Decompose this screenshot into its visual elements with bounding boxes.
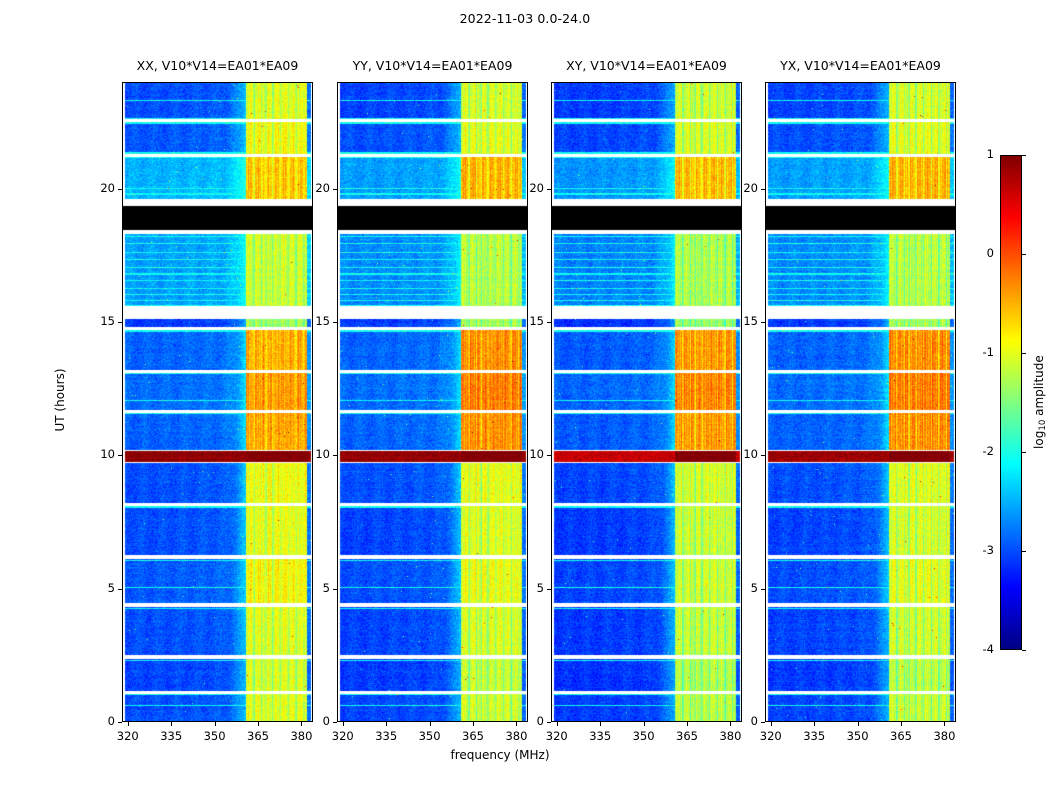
y-tick-mark xyxy=(118,455,122,456)
x-tick-mark xyxy=(901,722,902,726)
x-tick-label: 380 xyxy=(710,729,750,743)
x-tick-label: 365 xyxy=(667,729,707,743)
y-tick-label: 15 xyxy=(511,314,544,328)
colorbar-tick-mark xyxy=(1022,155,1026,156)
x-tick-mark xyxy=(473,722,474,726)
y-tick-label: 5 xyxy=(82,581,115,595)
x-tick-label: 350 xyxy=(838,729,878,743)
colorbar-tick-mark xyxy=(1022,452,1026,453)
y-tick-mark xyxy=(547,322,551,323)
y-tick-mark xyxy=(333,322,337,323)
x-tick-mark xyxy=(430,722,431,726)
x-tick-mark xyxy=(600,722,601,726)
colorbar-tick-label: -1 xyxy=(960,345,994,359)
spectrum-panel-yy[interactable] xyxy=(337,82,528,722)
x-tick-label: 335 xyxy=(580,729,620,743)
colorbar-tick-label: -2 xyxy=(960,444,994,458)
y-axis-label: UT (hours) xyxy=(53,360,67,440)
x-axis-label: frequency (MHz) xyxy=(380,748,620,762)
y-tick-mark xyxy=(333,455,337,456)
x-tick-mark xyxy=(944,722,945,726)
waterfall-image xyxy=(551,82,742,722)
y-tick-mark xyxy=(761,322,765,323)
y-tick-mark xyxy=(118,722,122,723)
x-tick-label: 350 xyxy=(624,729,664,743)
x-tick-mark xyxy=(128,722,129,726)
x-tick-label: 335 xyxy=(151,729,191,743)
colorbar-tick-label: -3 xyxy=(960,543,994,557)
x-tick-mark xyxy=(814,722,815,726)
figure-suptitle: 2022-11-03 0.0-24.0 xyxy=(0,11,1050,26)
x-tick-label: 335 xyxy=(366,729,406,743)
y-tick-label: 20 xyxy=(297,181,330,195)
x-tick-mark xyxy=(644,722,645,726)
y-tick-mark xyxy=(333,722,337,723)
panel-title: XX, V10*V14=EA01*EA09 xyxy=(92,58,343,73)
x-tick-label: 380 xyxy=(281,729,321,743)
y-tick-label: 5 xyxy=(511,581,544,595)
y-tick-label: 15 xyxy=(297,314,330,328)
y-tick-mark xyxy=(547,589,551,590)
x-tick-label: 365 xyxy=(453,729,493,743)
y-tick-label: 0 xyxy=(82,714,115,728)
x-tick-label: 380 xyxy=(924,729,964,743)
x-tick-mark xyxy=(171,722,172,726)
colorbar xyxy=(1000,155,1022,650)
waterfall-image xyxy=(765,82,956,722)
colorbar-label-prefix: log xyxy=(1032,430,1046,448)
x-tick-label: 320 xyxy=(323,729,363,743)
x-tick-mark xyxy=(386,722,387,726)
y-tick-label: 10 xyxy=(82,447,115,461)
y-tick-mark xyxy=(118,589,122,590)
y-tick-label: 20 xyxy=(82,181,115,195)
colorbar-gradient xyxy=(1000,155,1022,650)
waterfall-image xyxy=(337,82,528,722)
x-tick-mark xyxy=(557,722,558,726)
y-tick-mark xyxy=(547,455,551,456)
x-tick-label: 365 xyxy=(881,729,921,743)
x-tick-mark xyxy=(771,722,772,726)
y-tick-label: 10 xyxy=(511,447,544,461)
x-tick-label: 335 xyxy=(794,729,834,743)
spectrum-panel-xx[interactable] xyxy=(122,82,313,722)
y-tick-mark xyxy=(333,189,337,190)
colorbar-tick-mark xyxy=(1022,650,1026,651)
y-tick-label: 10 xyxy=(725,447,758,461)
y-tick-label: 0 xyxy=(725,714,758,728)
y-tick-mark xyxy=(761,722,765,723)
x-tick-label: 350 xyxy=(410,729,450,743)
y-tick-mark xyxy=(761,589,765,590)
x-tick-label: 380 xyxy=(496,729,536,743)
y-tick-mark xyxy=(547,189,551,190)
y-tick-label: 20 xyxy=(725,181,758,195)
colorbar-tick-mark xyxy=(1022,254,1026,255)
x-tick-mark xyxy=(858,722,859,726)
y-tick-label: 20 xyxy=(511,181,544,195)
y-tick-label: 0 xyxy=(511,714,544,728)
y-tick-label: 15 xyxy=(82,314,115,328)
colorbar-tick-mark xyxy=(1022,551,1026,552)
waterfall-image xyxy=(122,82,313,722)
spectrum-panel-xy[interactable] xyxy=(551,82,742,722)
x-tick-mark xyxy=(343,722,344,726)
x-tick-mark xyxy=(687,722,688,726)
x-tick-label: 320 xyxy=(537,729,577,743)
x-tick-label: 320 xyxy=(108,729,148,743)
colorbar-label: log10 amplitude xyxy=(1032,332,1048,472)
y-tick-mark xyxy=(333,589,337,590)
x-tick-mark xyxy=(258,722,259,726)
y-tick-label: 15 xyxy=(725,314,758,328)
colorbar-tick-label: 1 xyxy=(960,147,994,161)
y-tick-label: 5 xyxy=(725,581,758,595)
colorbar-label-suffix: amplitude xyxy=(1032,355,1046,419)
y-tick-label: 0 xyxy=(297,714,330,728)
colorbar-tick-mark xyxy=(1022,353,1026,354)
y-tick-mark xyxy=(118,322,122,323)
x-tick-label: 320 xyxy=(751,729,791,743)
y-tick-mark xyxy=(761,455,765,456)
colorbar-label-subscript: 10 xyxy=(1038,419,1048,430)
x-tick-label: 350 xyxy=(195,729,235,743)
colorbar-tick-label: -4 xyxy=(960,642,994,656)
y-tick-label: 5 xyxy=(297,581,330,595)
spectrum-panel-yx[interactable] xyxy=(765,82,956,722)
x-tick-mark xyxy=(215,722,216,726)
y-tick-mark xyxy=(118,189,122,190)
colorbar-tick-label: 0 xyxy=(960,246,994,260)
y-tick-label: 10 xyxy=(297,447,330,461)
y-tick-mark xyxy=(547,722,551,723)
y-tick-mark xyxy=(761,189,765,190)
x-tick-label: 365 xyxy=(238,729,278,743)
panel-title: YX, V10*V14=EA01*EA09 xyxy=(735,58,986,73)
